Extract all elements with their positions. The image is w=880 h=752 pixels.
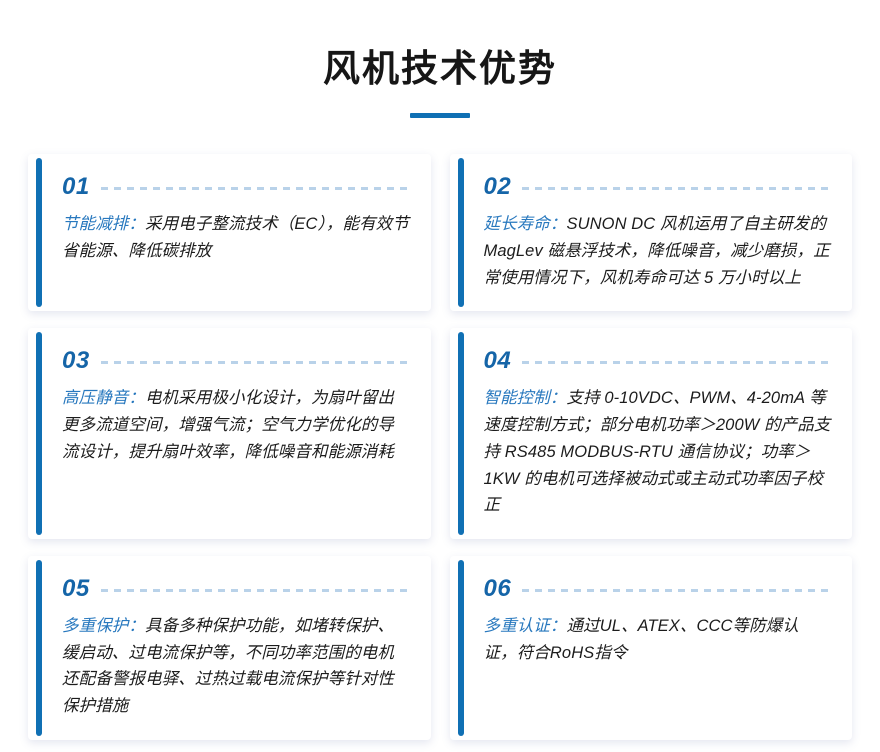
card-header: 05 (62, 576, 411, 602)
dashed-divider (101, 361, 411, 364)
card-accent-bar (36, 332, 42, 535)
card-label: 延长寿命： (484, 215, 567, 233)
card-label: 多重保护： (62, 617, 145, 635)
card-number: 03 (62, 349, 90, 373)
card-accent-bar (458, 332, 464, 535)
card-number: 06 (484, 577, 512, 601)
card-body: 智能控制：支持 0-10VDC、PWM、4-20mA 等速度控制方式；部分电机功… (484, 385, 833, 519)
card-header: 04 (484, 348, 833, 374)
advantage-card: 02 延长寿命：SUNON DC 风机运用了自主研发的 MagLev 磁悬浮技术… (450, 154, 853, 311)
card-number: 05 (62, 577, 90, 601)
page-title: 风机技术优势 (0, 46, 880, 92)
card-accent-bar (458, 560, 464, 736)
advantage-card: 04 智能控制：支持 0-10VDC、PWM、4-20mA 等速度控制方式；部分… (450, 328, 853, 539)
dashed-divider (101, 187, 411, 190)
card-body: 多重保护：具备多种保护功能，如堵转保护、缓启动、过电流保护等，不同功率范围的电机… (62, 613, 411, 720)
card-label: 节能减排： (62, 215, 145, 233)
card-header: 01 (62, 174, 411, 200)
card-accent-bar (36, 158, 42, 307)
card-header: 06 (484, 576, 833, 602)
dashed-divider (522, 361, 832, 364)
advantage-card-grid: 01 节能减排：采用电子整流技术（EC），能有效节省能源、降低碳排放 02 延长… (28, 154, 852, 740)
card-body: 多重认证：通过UL、ATEX、CCC等防爆认证，符合RoHS指令 (484, 613, 833, 666)
card-label: 高压静音： (62, 389, 145, 407)
card-body: 节能减排：采用电子整流技术（EC），能有效节省能源、降低碳排放 (62, 211, 411, 264)
card-body: 延长寿命：SUNON DC 风机运用了自主研发的 MagLev 磁悬浮技术，降低… (484, 211, 833, 291)
dashed-divider (522, 187, 832, 190)
card-accent-bar (36, 560, 42, 736)
advantage-card: 01 节能减排：采用电子整流技术（EC），能有效节省能源、降低碳排放 (28, 154, 431, 311)
card-number: 04 (484, 349, 512, 373)
card-text: 支持 0-10VDC、PWM、4-20mA 等速度控制方式；部分电机功率＞200… (484, 389, 831, 514)
dashed-divider (522, 589, 832, 592)
advantage-card: 06 多重认证：通过UL、ATEX、CCC等防爆认证，符合RoHS指令 (450, 556, 853, 740)
advantage-card: 03 高压静音：电机采用极小化设计，为扇叶留出更多流道空间，增强气流；空气力学优… (28, 328, 431, 539)
advantage-card: 05 多重保护：具备多种保护功能，如堵转保护、缓启动、过电流保护等，不同功率范围… (28, 556, 431, 740)
dashed-divider (101, 589, 411, 592)
card-body: 高压静音：电机采用极小化设计，为扇叶留出更多流道空间，增强气流；空气力学优化的导… (62, 385, 411, 465)
card-header: 02 (484, 174, 833, 200)
title-underline (410, 113, 470, 118)
card-number: 01 (62, 175, 90, 199)
card-label: 多重认证： (484, 617, 567, 635)
card-number: 02 (484, 175, 512, 199)
page-root: 风机技术优势 01 节能减排：采用电子整流技术（EC），能有效节省能源、降低碳排… (0, 0, 880, 752)
page-header: 风机技术优势 (0, 0, 880, 118)
card-accent-bar (458, 158, 464, 307)
card-header: 03 (62, 348, 411, 374)
card-label: 智能控制： (484, 389, 567, 407)
